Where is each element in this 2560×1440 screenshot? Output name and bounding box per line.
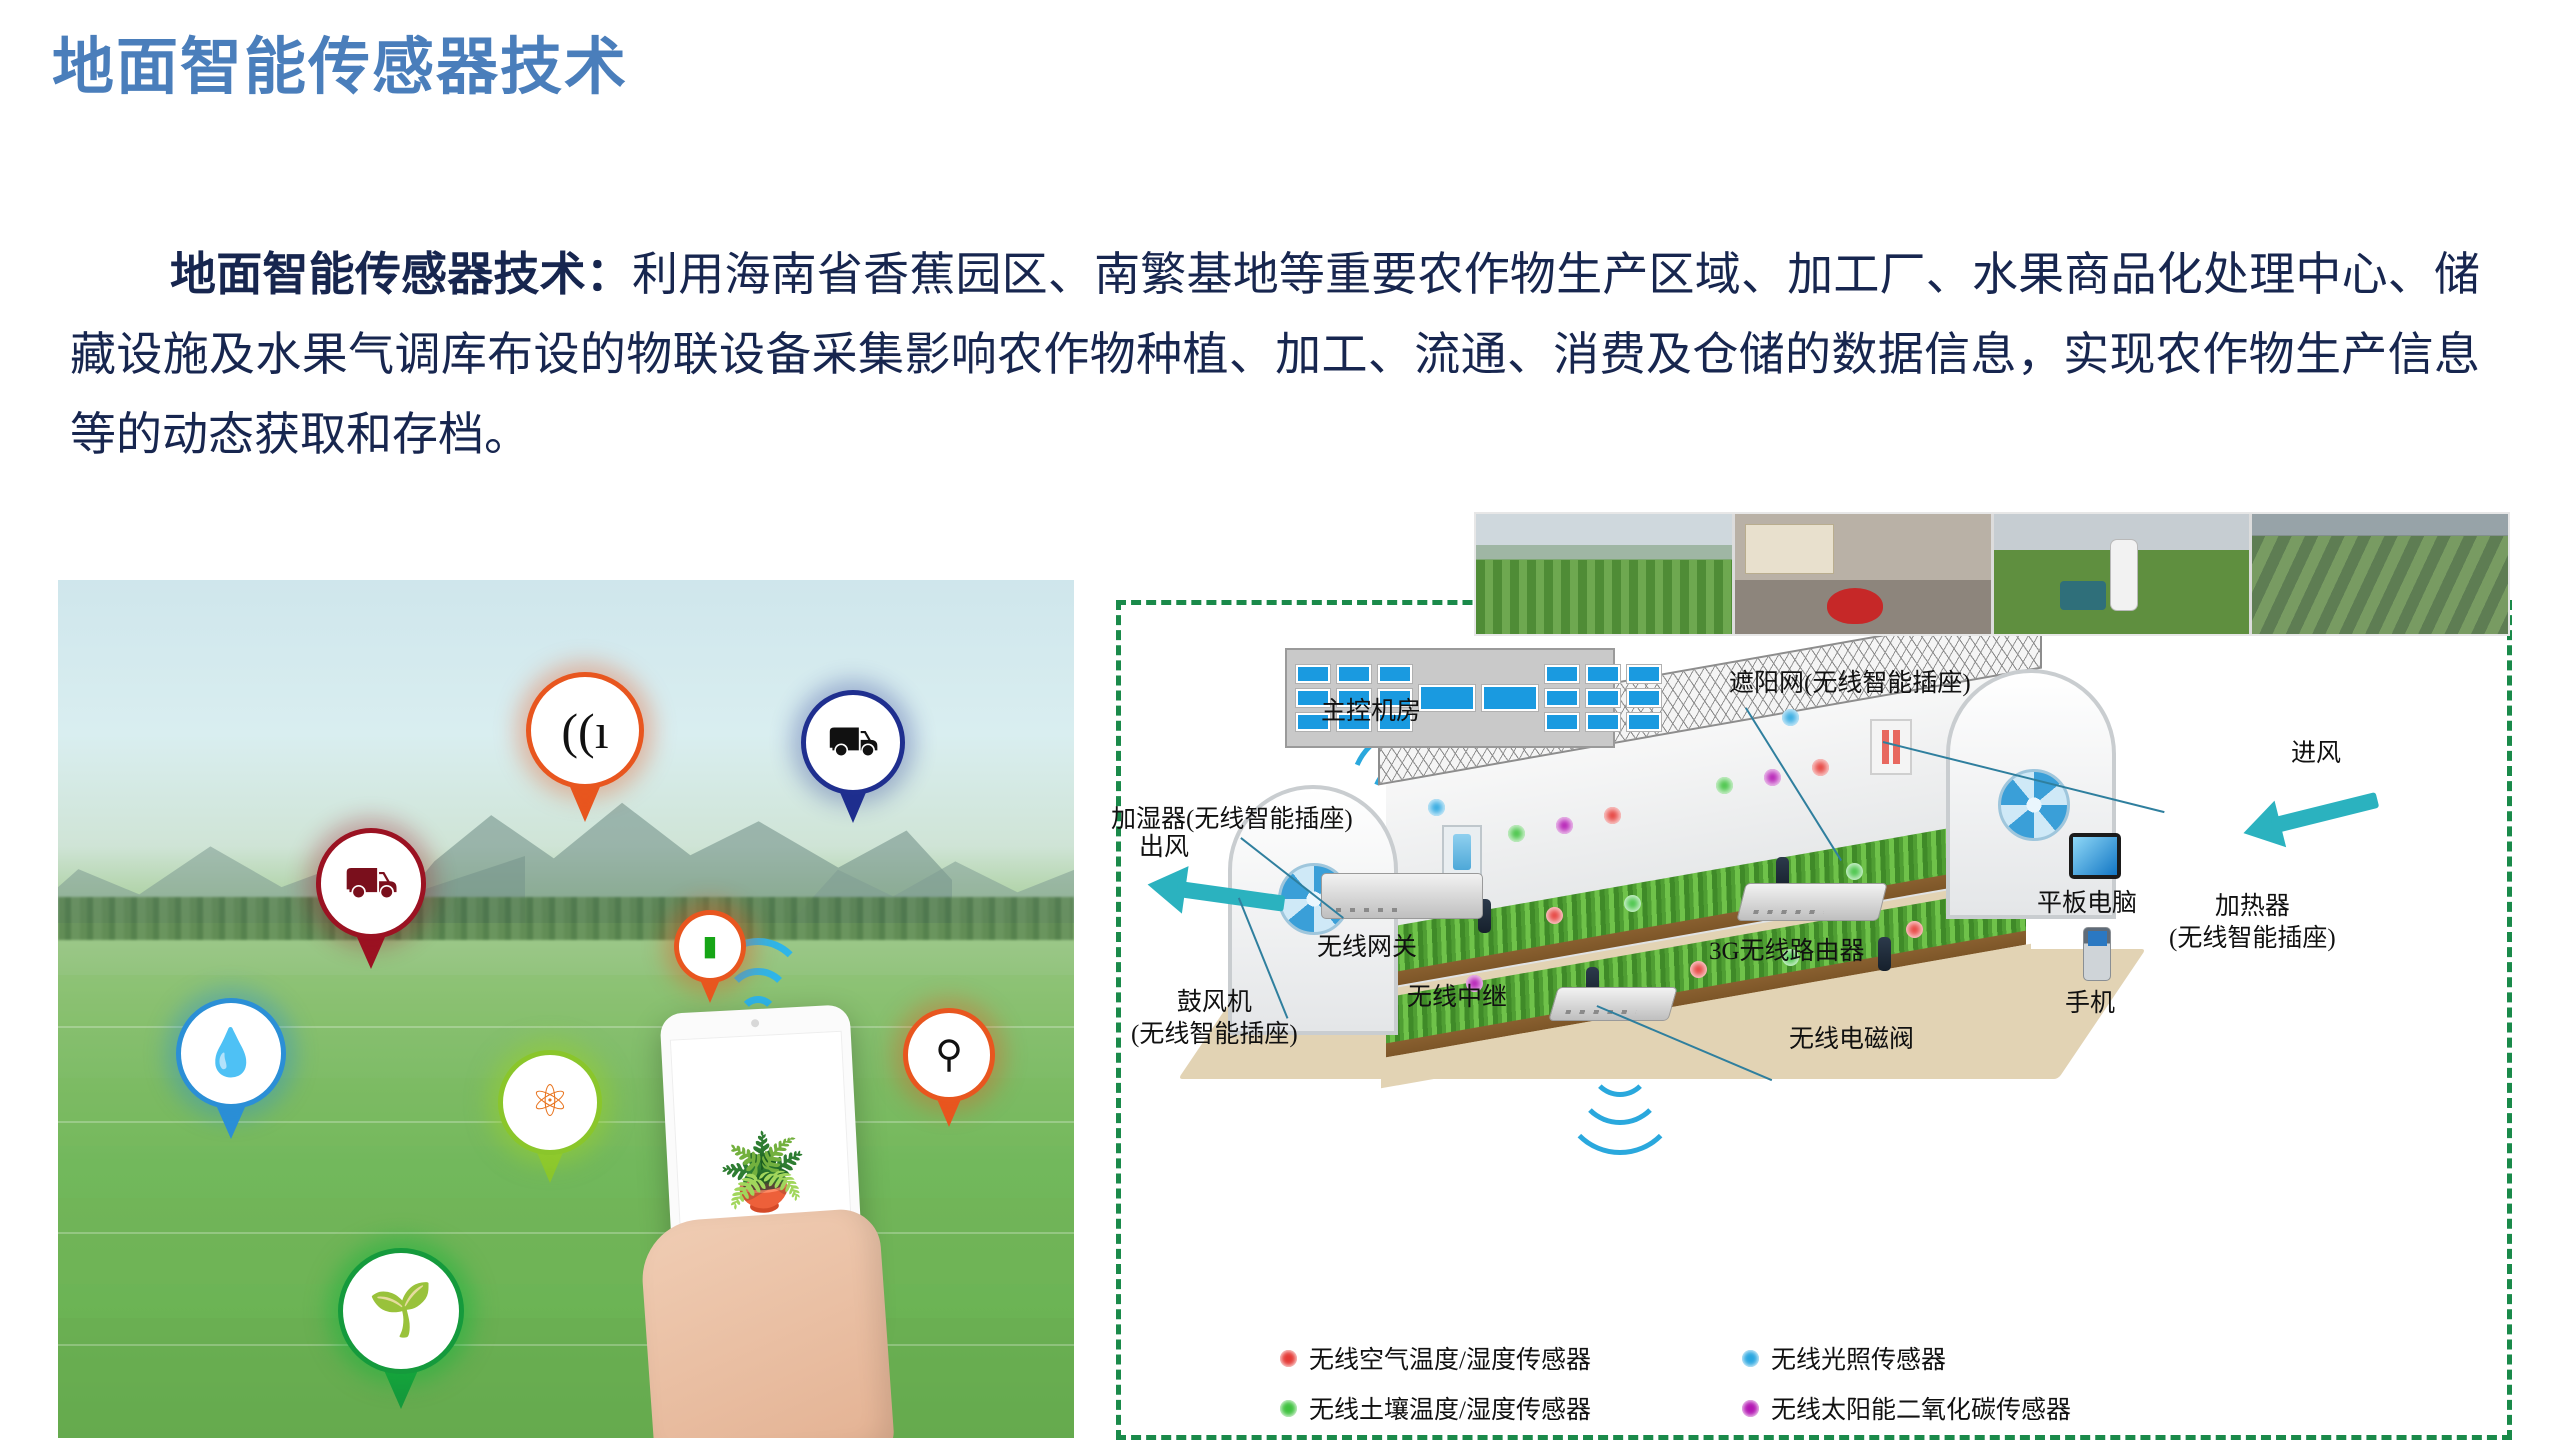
signal-sensor-pin[interactable]: ((ı — [526, 672, 644, 822]
label-phone: 手机 — [2065, 983, 2115, 1019]
label-heater-line1: 加热器 — [2215, 893, 2290, 920]
pin-bubble: ((ı — [526, 672, 644, 789]
rack-main-unit — [1482, 685, 1538, 711]
iot-greenhouse-diagram: 主控机房 无线网关 3G无线路由器 平板电脑 手机 无线中继 加湿器(无线智能插… — [1116, 600, 2512, 1440]
label-tablet: 平板电脑 — [2037, 883, 2137, 919]
label-repeater: 无线中继 — [1407, 977, 1507, 1013]
plant-app-icon: 🪴 — [715, 1135, 811, 1214]
tractor-icon: ⛟ — [343, 861, 398, 905]
sensor-dot-air — [1546, 907, 1563, 924]
sensor-dot-air — [1906, 921, 1923, 938]
rack-main-unit — [1419, 685, 1475, 711]
router-3g-device — [1736, 883, 1887, 921]
npk-icon: ⚛ — [530, 1080, 569, 1124]
legend-dot-soil — [1280, 1400, 1297, 1417]
pin-bubble: ⚲ — [903, 1008, 995, 1102]
treeline — [58, 897, 1074, 940]
pin-bubble: ▮ — [674, 910, 746, 983]
drone-icon: ⛟ — [827, 721, 880, 763]
label-heater: 加热器 (无线智能插座) — [2169, 891, 2336, 955]
legend-dot-light — [1742, 1350, 1759, 1367]
rack-led-column — [1545, 665, 1579, 731]
field-photo: ((ı ⛟ ⛟ ▮ 💧 ⚛ ⚲ — [58, 580, 1074, 1438]
label-heater-line2: (无线智能插座) — [2169, 925, 2336, 952]
farmer-icon: ⚲ — [935, 1036, 963, 1074]
body-paragraph: 地面智能传感器技术：利用海南省香蕉园区、南繁基地等重要农作物生产区域、加工厂、水… — [70, 235, 2480, 475]
legend-light: 无线光照传感器 — [1742, 1340, 2212, 1376]
legend-air-temp-humidity: 无线空气温度/湿度传感器 — [1280, 1340, 1720, 1376]
sensor-legend: 无线空气温度/湿度传感器 无线光照传感器 无线土壤温度/湿度传感器 无线太阳能二… — [1280, 1340, 2212, 1426]
pin-bubble: 🌱 — [338, 1248, 464, 1374]
farmer-pin[interactable]: ⚲ — [903, 1008, 995, 1128]
furrow — [58, 1232, 1074, 1234]
sensor-dot-air — [1690, 961, 1707, 978]
field-band — [58, 1318, 1074, 1438]
label-blower-line1: 鼓风机 — [1177, 989, 1252, 1016]
legend-label: 无线光照传感器 — [1771, 1340, 1946, 1376]
seedling-pin[interactable]: 🌱 — [338, 1248, 464, 1410]
thumb-lab-workshop[interactable] — [1735, 514, 1991, 634]
pin-bubble: ⚛ — [498, 1050, 602, 1155]
air-in-arrow — [2237, 770, 2396, 859]
label-air-in: 进风 — [2291, 733, 2341, 769]
label-router-3g: 3G无线路由器 — [1709, 931, 1865, 967]
pin-bubble: 💧 — [176, 998, 286, 1109]
sensor-dot-co2 — [1556, 817, 1573, 834]
water-drop-pin[interactable]: 💧 — [176, 998, 286, 1140]
sensor-dot-air — [1812, 759, 1829, 776]
legend-solar-co2: 无线太阳能二氧化碳传感器 — [1742, 1390, 2212, 1426]
legend-label: 无线太阳能二氧化碳传感器 — [1771, 1390, 2071, 1426]
wireless-repeater-device — [1548, 987, 1678, 1021]
seedling-icon: 🌱 — [369, 1285, 434, 1337]
rack-led-column — [1586, 665, 1620, 731]
battery-icon: ▮ — [702, 933, 717, 961]
wireless-gateway-device — [1321, 873, 1483, 919]
label-shade-net: 遮阳网(无线智能插座) — [1729, 663, 1971, 699]
humidifier-device — [1442, 825, 1482, 879]
tablet-device — [2069, 833, 2121, 879]
tractor-pin[interactable]: ⛟ — [316, 828, 426, 970]
pin-bubble: ⛟ — [801, 690, 905, 795]
mobile-phone-device — [2083, 927, 2111, 981]
field-band — [58, 1198, 1074, 1284]
label-gateway: 无线网关 — [1317, 927, 1417, 963]
page-title: 地面智能传感器技术 — [52, 16, 628, 106]
hand — [639, 1207, 896, 1438]
water-drop-icon: 💧 — [202, 1030, 259, 1076]
label-control-room: 主控机房 — [1321, 691, 1421, 727]
sensor-dot-soil — [1624, 895, 1641, 912]
legend-label: 无线空气温度/湿度传感器 — [1309, 1340, 1591, 1376]
thumb-field-weather-station[interactable] — [1994, 514, 2250, 634]
sensor-dot-air — [1604, 807, 1621, 824]
sensor-dot-co2 — [1764, 769, 1781, 786]
sensor-dot-light — [1428, 799, 1445, 816]
label-air-out: 出风 — [1139, 827, 1189, 863]
label-blower-line2: (无线智能插座) — [1131, 1021, 1298, 1048]
thumb-plant-monitoring[interactable] — [2252, 514, 2508, 634]
rack-led-column — [1627, 665, 1661, 731]
thumb-greenhouse-seedlings[interactable] — [1476, 514, 1732, 634]
drone-pin[interactable]: ⛟ — [801, 690, 905, 824]
label-solenoid-valve: 无线电磁阀 — [1789, 1019, 1914, 1055]
body-lead: 地面智能传感器技术： — [170, 249, 632, 300]
sensor-dot-soil — [1716, 777, 1733, 794]
solenoid-valve — [1878, 937, 1891, 971]
sensor-dot-soil — [1846, 863, 1863, 880]
pin-bubble: ⛟ — [316, 828, 426, 939]
legend-dot-co2 — [1742, 1400, 1759, 1417]
legend-label: 无线土壤温度/湿度传感器 — [1309, 1390, 1591, 1426]
legend-dot-air — [1280, 1350, 1297, 1367]
sensor-dot-soil — [1508, 825, 1525, 842]
signal-icon: ((ı — [561, 706, 608, 756]
photo-thumbnail-strip[interactable] — [1474, 512, 2510, 636]
label-blower: 鼓风机 (无线智能插座) — [1131, 987, 1298, 1051]
phone-camera — [750, 1019, 758, 1027]
fertilizer-npk-pin[interactable]: ⚛ — [498, 1050, 602, 1184]
furrow — [58, 1344, 1074, 1346]
legend-soil-temp-humidity: 无线土壤温度/湿度传感器 — [1280, 1390, 1720, 1426]
sensor-dot-light — [1782, 709, 1799, 726]
